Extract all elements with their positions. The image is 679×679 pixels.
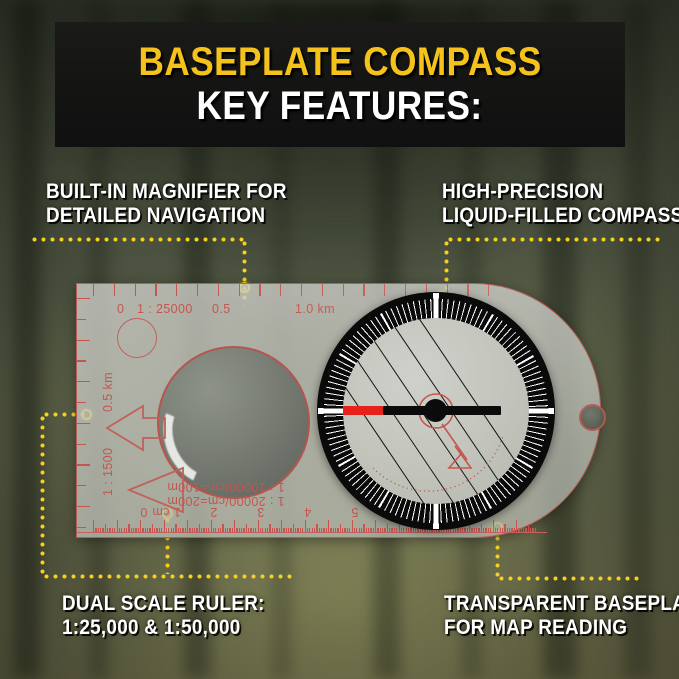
lanyard-hole xyxy=(579,404,606,431)
ruler-tick xyxy=(384,284,385,296)
banner-title-secondary: KEY FEATURES: xyxy=(197,86,483,127)
connector-baseplate-horizontal xyxy=(497,574,641,583)
callout-compass: HIGH-PRECISION LIQUID-FILLED COMPASS xyxy=(442,180,672,229)
left-edge-ticks xyxy=(77,284,93,539)
bottom-ruler-label-2: 2 xyxy=(210,505,217,519)
banner-title-primary: BASEPLATE COMPASS xyxy=(138,42,541,83)
ruler-tick xyxy=(363,284,364,296)
needle-pivot xyxy=(424,399,447,422)
ruler-tick xyxy=(77,381,90,382)
ruler-tick xyxy=(239,284,240,296)
left-edge-label-scale: 1 : 1500 xyxy=(101,448,115,496)
baseplate-arrow-upper xyxy=(103,402,173,454)
bottom-ruler-label-origin: 0 xyxy=(140,505,147,519)
callout-ruler-line2: 1:25,000 & 1:50,000 xyxy=(62,616,287,640)
callout-magnifier-line1: BUILT-IN MAGNIFIER FOR xyxy=(46,180,244,204)
callout-baseplate: TRANSPARENT BASEPLATE FOR MAP READING xyxy=(444,592,679,641)
ruler-tick xyxy=(301,284,302,296)
romer-circle xyxy=(117,318,157,358)
top-ruler-ticks xyxy=(77,284,602,300)
callout-ruler: DUAL SCALE RULER: 1:25,000 & 1:50,000 xyxy=(62,592,312,641)
ruler-tick xyxy=(218,284,219,296)
ruler-tick xyxy=(77,360,86,361)
ruler-tick xyxy=(93,284,94,296)
bottom-ruler-label-unit: 1 cm xyxy=(152,505,181,519)
bottom-ruler-ticks xyxy=(77,519,602,537)
bottom-ruler-label-3: 3 xyxy=(257,505,264,519)
bottom-ruler-baseline xyxy=(77,532,547,533)
connector-compass-horizontal xyxy=(446,235,660,244)
ruler-tick xyxy=(197,284,198,296)
ruler-tick xyxy=(259,284,260,296)
compass-capsule xyxy=(343,318,529,504)
top-ruler-label-scale: 1 : 25000 xyxy=(137,302,193,316)
callout-magnifier-line2: DETAILED NAVIGATION xyxy=(46,204,244,228)
ruler-tick xyxy=(176,284,177,296)
compass-housing[interactable] xyxy=(317,292,555,530)
ruler-tick xyxy=(77,340,90,341)
callout-baseplate-line2: FOR MAP READING xyxy=(444,616,656,640)
title-banner: BASEPLATE COMPASS KEY FEATURES: xyxy=(55,22,625,147)
ruler-tick xyxy=(155,284,156,296)
ruler-tick xyxy=(77,444,86,445)
callout-compass-line1: HIGH-PRECISION xyxy=(442,180,649,204)
ruler-tick xyxy=(467,284,468,296)
connector-magnifier-horizontal xyxy=(30,235,246,244)
ruler-tick xyxy=(488,284,489,296)
ruler-tick xyxy=(77,298,90,299)
callout-baseplate-line1: TRANSPARENT BASEPLATE xyxy=(444,592,656,616)
callout-magnifier: BUILT-IN MAGNIFIER FOR DETAILED NAVIGATI… xyxy=(24,180,244,229)
top-ruler-label-onekm: 1.0 km xyxy=(295,302,335,316)
ruler-tick xyxy=(77,464,90,465)
ruler-tick xyxy=(77,506,90,507)
ruler-tick xyxy=(77,423,90,424)
ruler-tick xyxy=(343,284,344,296)
ruler-tick xyxy=(135,284,136,296)
needle-south-red xyxy=(343,406,383,415)
connector-ruler-left-vertical xyxy=(38,414,47,576)
ruler-tick xyxy=(77,402,86,403)
callout-ruler-line1: DUAL SCALE RULER: xyxy=(62,592,287,616)
ruler-tick xyxy=(77,485,86,486)
bottom-ruler-label-5: 5 xyxy=(351,505,358,519)
top-ruler-label-half: 0.5 xyxy=(212,302,231,316)
bottom-ruler-label-4: 4 xyxy=(304,505,311,519)
conversion-label-line2: 1 : 20000/cm=200m xyxy=(167,494,285,508)
ruler-tick xyxy=(77,319,86,320)
top-ruler-label-zero: 0 xyxy=(117,302,124,316)
ruler-tick xyxy=(405,284,406,296)
conversion-label-line1: 1 : 10000/cm=100m xyxy=(167,480,285,494)
callout-compass-line2: LIQUID-FILLED COMPASS xyxy=(442,204,649,228)
compass-product: 0 1 : 25000 0.5 1.0 km 1.5 0.5 km 1 : 15… xyxy=(70,276,610,546)
ruler-tick xyxy=(322,284,323,296)
ruler-tick xyxy=(280,284,281,296)
ruler-tick xyxy=(114,284,115,296)
